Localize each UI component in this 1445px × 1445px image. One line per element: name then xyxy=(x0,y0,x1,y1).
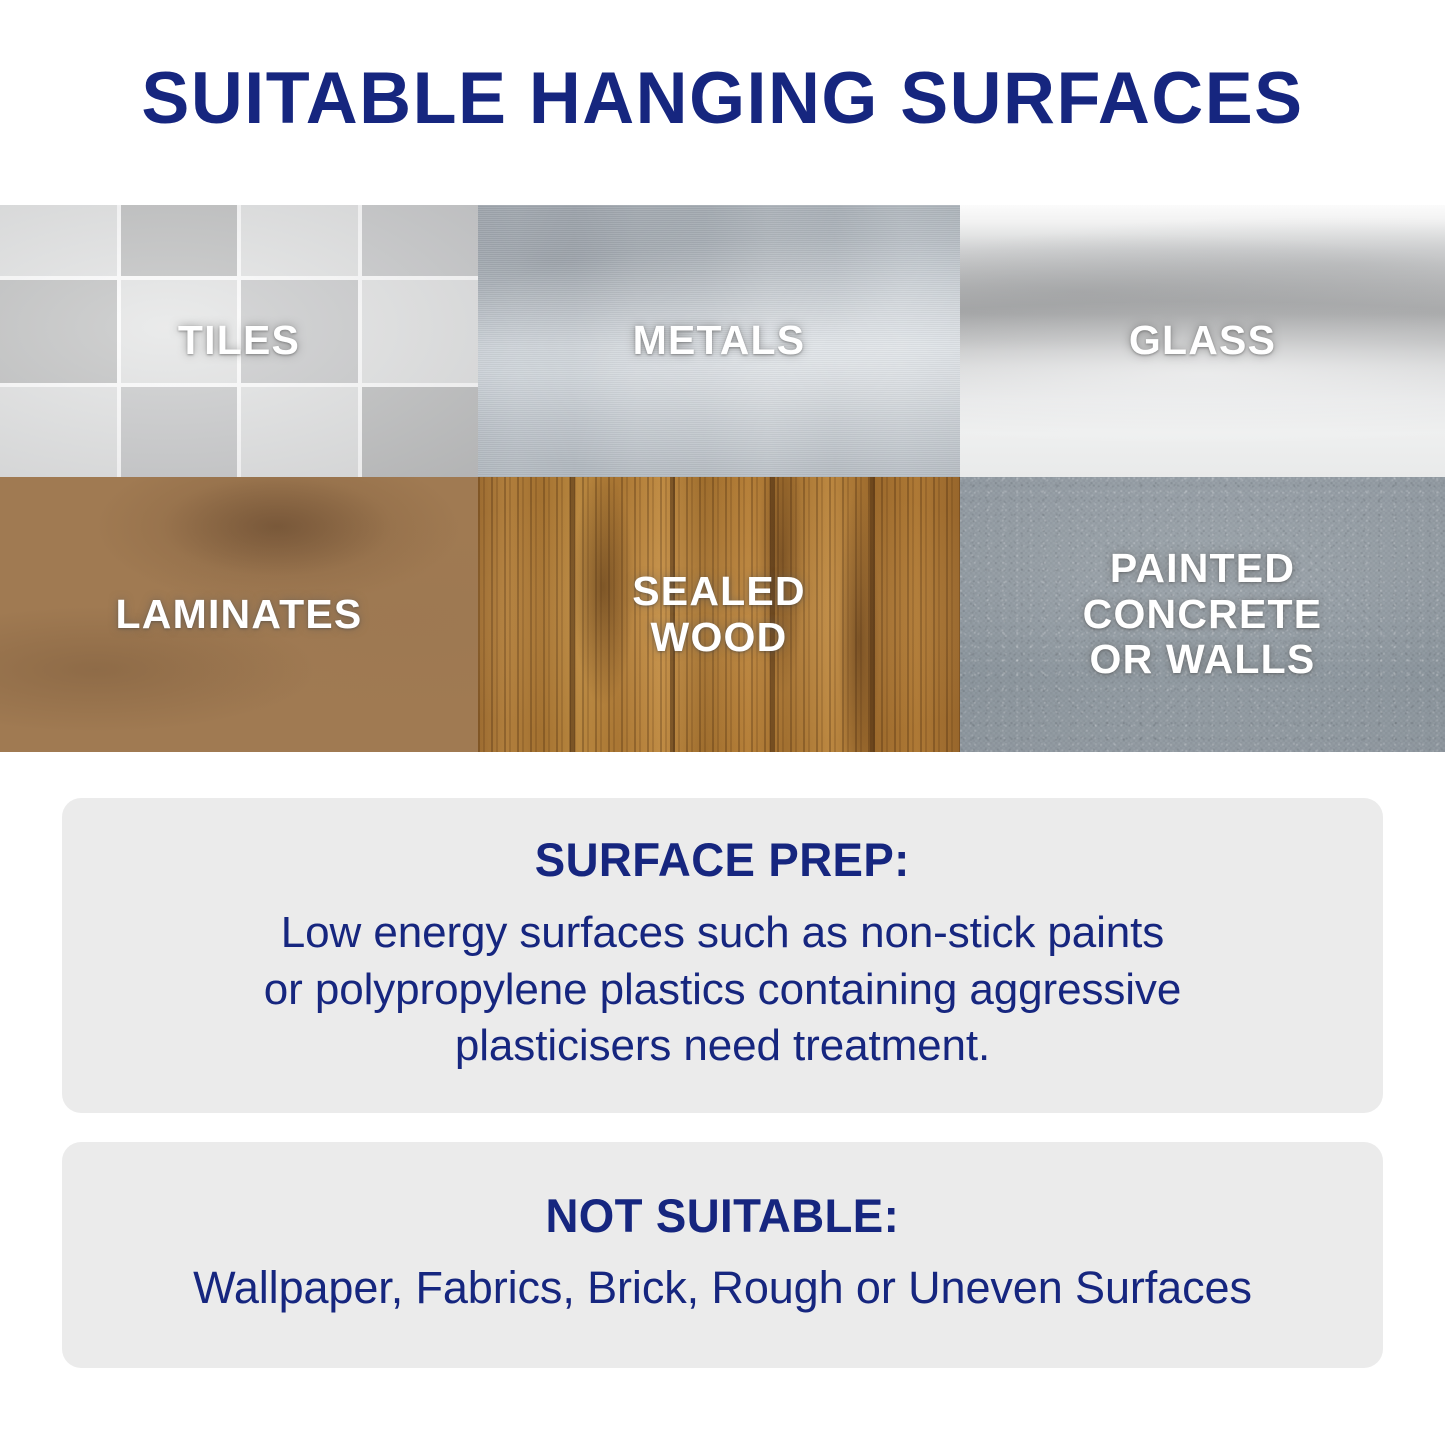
surface-tile-tiles: TILES xyxy=(0,205,478,477)
surface-tile-painted-concrete: PAINTED CONCRETE OR WALLS xyxy=(960,477,1445,752)
surface-tile-glass: GLASS xyxy=(960,205,1445,477)
page-title: SUITABLE HANGING SURFACES xyxy=(11,62,1434,135)
surface-label-tiles: TILES xyxy=(178,318,300,364)
surface-tile-sealed-wood: SEALED WOOD xyxy=(478,477,960,752)
surface-label-sealed-wood: SEALED WOOD xyxy=(632,569,806,661)
surface-tile-laminates: LAMINATES xyxy=(0,477,478,752)
surface-label-laminates: LAMINATES xyxy=(116,592,363,638)
not-suitable-heading: NOT SUITABLE: xyxy=(546,1192,900,1239)
surface-label-painted-concrete: PAINTED CONCRETE OR WALLS xyxy=(1083,546,1323,684)
surface-image-grid: TILES METALS GLASS LAMINATES SEALED WOOD… xyxy=(0,205,1445,752)
surface-prep-heading: SURFACE PREP: xyxy=(535,836,910,883)
surface-label-metals: METALS xyxy=(633,318,806,364)
surface-label-glass: GLASS xyxy=(1129,318,1276,364)
not-suitable-body: Wallpaper, Fabrics, Brick, Rough or Unev… xyxy=(193,1259,1252,1317)
surface-prep-body: Low energy surfaces such as non-stick pa… xyxy=(264,905,1181,1075)
surface-prep-panel: SURFACE PREP: Low energy surfaces such a… xyxy=(62,798,1383,1113)
not-suitable-panel: NOT SUITABLE: Wallpaper, Fabrics, Brick,… xyxy=(62,1142,1383,1368)
surface-tile-metals: METALS xyxy=(478,205,960,477)
